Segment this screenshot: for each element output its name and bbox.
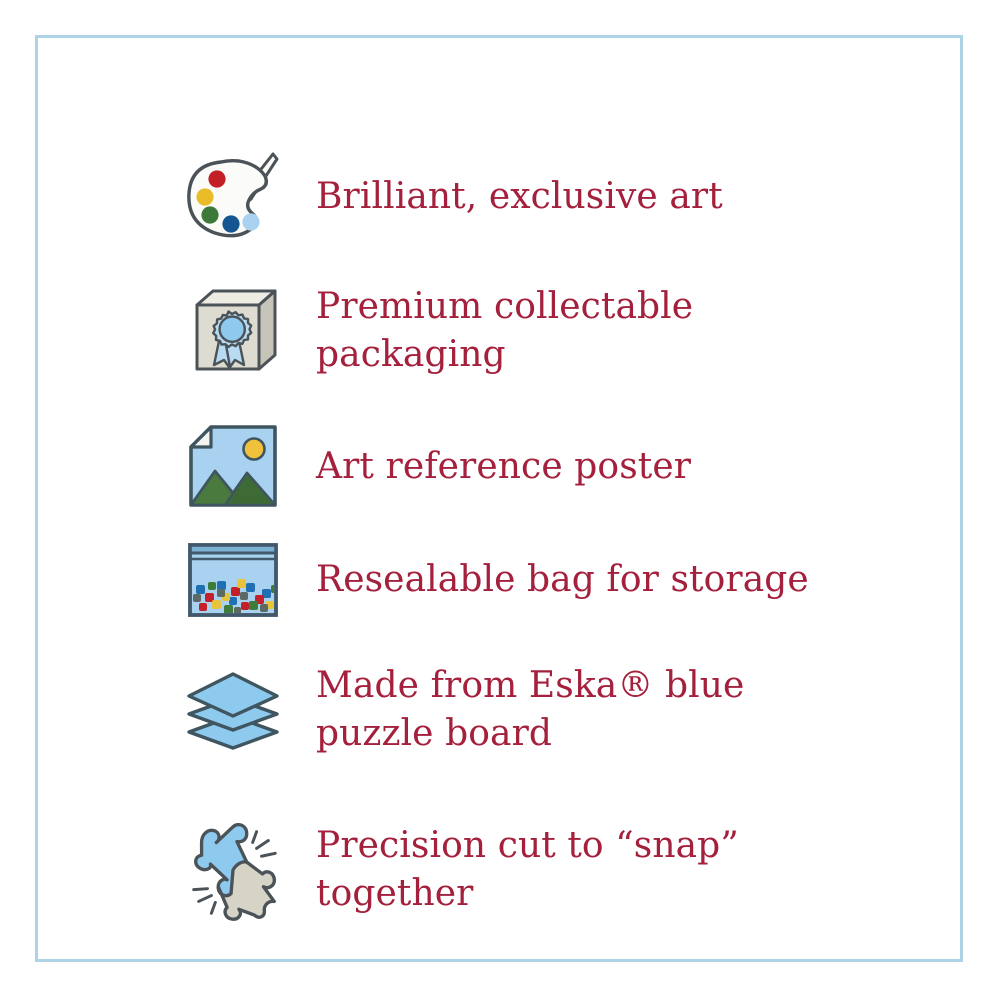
feature-item-made-from-eska-blue-puzzle-board: Made from Eska® blue puzzle board (178, 655, 958, 765)
feature-item-brilliant-exclusive-art: Brilliant, exclusive art (178, 141, 958, 253)
feature-label: Premium collectable packaging (288, 283, 693, 378)
layers-stack-icon (178, 655, 288, 765)
feature-item-resealable-bag-for-storage: Resealable bag for storage (178, 532, 958, 628)
feature-label: Resealable bag for storage (288, 556, 809, 604)
feature-item-precision-cut-to-snap-together: Precision cut to “snap” together (178, 810, 958, 930)
award-box-icon (178, 276, 288, 386)
feature-label: Art reference poster (288, 443, 691, 491)
card-border-frame: Brilliant, exclusive art (35, 35, 963, 962)
poster-image-icon (178, 412, 288, 522)
feature-item-premium-collectable-packaging: Premium collectable packaging (178, 275, 958, 387)
resealable-bag-icon (178, 525, 288, 635)
feature-list-card: Brilliant, exclusive art (0, 0, 1000, 1000)
paint-palette-icon (178, 142, 288, 252)
feature-item-art-reference-poster: Art reference poster (178, 416, 958, 518)
feature-label: Brilliant, exclusive art (288, 173, 723, 221)
feature-label: Made from Eska® blue puzzle board (288, 662, 744, 757)
puzzle-pieces-snap-icon (178, 815, 288, 925)
feature-list: Brilliant, exclusive art (38, 38, 960, 959)
feature-label: Precision cut to “snap” together (288, 822, 739, 917)
